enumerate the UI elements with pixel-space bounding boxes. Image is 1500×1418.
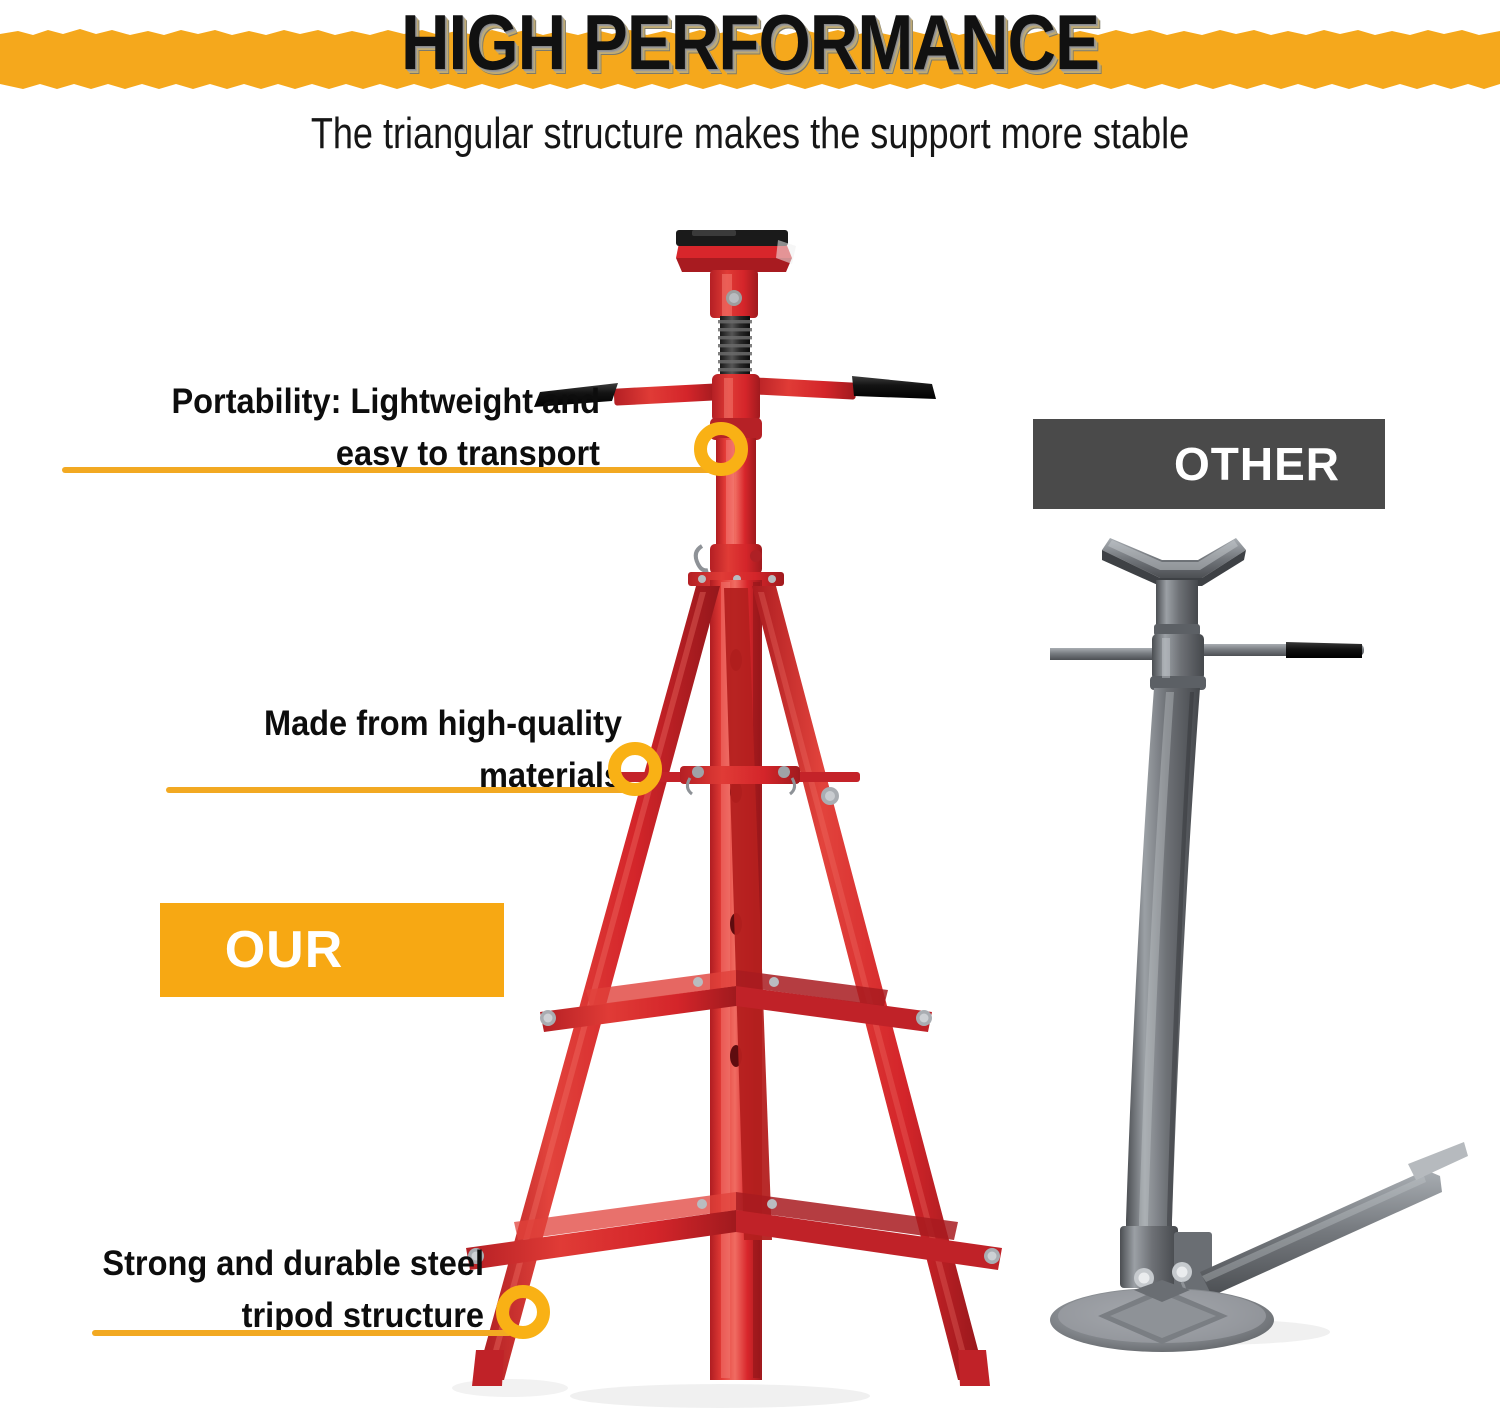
upper-neck	[1154, 580, 1200, 636]
callout-portability-line1: Portability: Lightweight and	[51, 376, 600, 428]
curved-main-column	[1126, 688, 1200, 1264]
callout-portability: Portability: Lightweight and easy to tra…	[10, 376, 600, 480]
foot-pedal-arm	[1200, 1142, 1468, 1296]
callout-tripod-leader-line	[92, 1330, 512, 1336]
saddle-head	[676, 230, 796, 272]
product-marketing-banner: HIGH PERFORMANCE The triangular structur…	[0, 0, 1500, 1418]
callout-materials-marker-ring	[608, 742, 662, 796]
our-label-chip: OUR	[160, 903, 504, 997]
right-handle-grip	[852, 376, 936, 399]
callout-tripod: Strong and durable steel tripod structur…	[0, 1238, 484, 1342]
other-label-text: OTHER	[1174, 437, 1340, 491]
callout-materials-leader-line	[166, 787, 636, 793]
safety-pin	[696, 546, 708, 570]
callout-materials-line1: Made from high-quality	[71, 698, 622, 750]
gray-pedestal-jack-stand-image	[1050, 520, 1470, 1360]
other-label-chip: OTHER	[1033, 419, 1385, 509]
v-saddle-head	[1102, 538, 1246, 586]
saddle-neck	[710, 270, 758, 318]
right-handle-grip	[1286, 642, 1362, 658]
callout-portability-leader-line	[62, 467, 722, 473]
callout-portability-marker-ring	[694, 422, 748, 476]
page-title: HIGH PERFORMANCE	[105, 0, 1395, 88]
disc-base	[1050, 1280, 1274, 1352]
callout-materials-line2: materials	[71, 750, 622, 802]
left-foot	[472, 1350, 504, 1386]
our-label-text: OUR	[225, 920, 344, 980]
right-foot	[958, 1350, 990, 1386]
callout-tripod-marker-ring	[496, 1285, 550, 1339]
t-handle-bar	[1050, 634, 1364, 690]
header-banner: HIGH PERFORMANCE	[0, 0, 1500, 100]
locking-collar	[688, 544, 784, 586]
page-subtitle: The triangular structure makes the suppo…	[135, 106, 1365, 162]
callout-tripod-line1: Strong and durable steel	[0, 1238, 484, 1290]
